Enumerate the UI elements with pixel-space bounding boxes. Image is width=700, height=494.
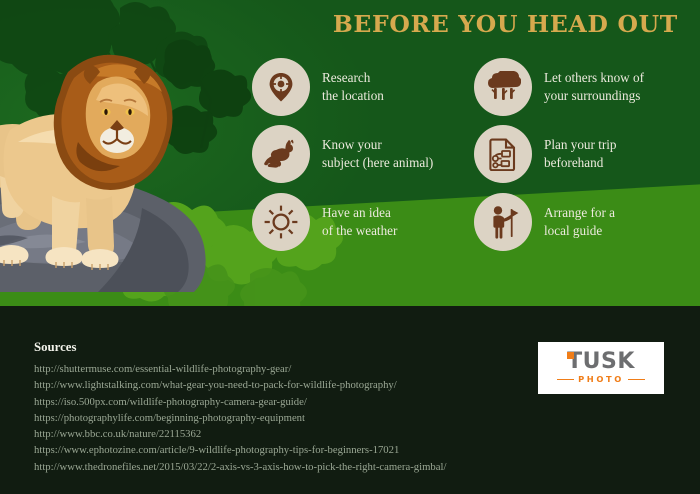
sources-list: http://shuttermuse.com/essential-wildlif… xyxy=(34,361,446,475)
logo-tagline-row: PHOTO xyxy=(545,375,657,384)
kangaroo-icon xyxy=(263,138,299,170)
tusk-photo-logo[interactable]: TUSK PHOTO xyxy=(538,342,664,394)
logo-orange-accent xyxy=(567,352,574,359)
tip-icon-bubble xyxy=(474,58,532,116)
source-link[interactable]: http://www.thedronefiles.net/2015/03/22/… xyxy=(34,459,446,475)
infographic-root: BEFORE YOU HEAD OUT Research the locatio… xyxy=(0,0,700,494)
hero-panel: BEFORE YOU HEAD OUT Research the locatio… xyxy=(0,0,700,306)
tip-label: Have an idea of the weather xyxy=(322,204,397,240)
tip-label: Know your subject (here animal) xyxy=(322,136,433,172)
sun-icon xyxy=(263,204,299,240)
page-title: BEFORE YOU HEAD OUT xyxy=(333,10,678,38)
sources-heading: Sources xyxy=(34,340,76,355)
source-link[interactable]: http://www.bbc.co.uk/nature/22115362 xyxy=(34,426,446,442)
plan-document-icon xyxy=(487,137,519,171)
tip-item-let-others-know[interactable]: Let others know of your surroundings xyxy=(474,58,644,116)
tip-item-have-an-idea-of-the-weather[interactable]: Have an idea of the weather xyxy=(252,193,397,251)
source-link[interactable]: http://www.lightstalking.com/what-gear-y… xyxy=(34,377,446,393)
tip-label: Arrange for a local guide xyxy=(544,204,615,240)
tip-icon-bubble xyxy=(252,193,310,251)
logo-tagline: PHOTO xyxy=(578,375,624,384)
logo-inner: TUSK PHOTO xyxy=(545,351,657,385)
source-link[interactable]: http://shuttermuse.com/essential-wildlif… xyxy=(34,361,446,377)
logo-rule-left xyxy=(557,379,574,381)
tip-icon-bubble xyxy=(474,193,532,251)
tip-icon-bubble xyxy=(252,125,310,183)
tip-icon-bubble xyxy=(252,58,310,116)
logo-rule-right xyxy=(628,379,645,381)
tips-grid: Research the location xyxy=(252,55,700,295)
tip-item-arrange-for-a-local-guide[interactable]: Arrange for a local guide xyxy=(474,193,615,251)
map-pin-icon xyxy=(264,70,298,104)
trees-icon xyxy=(485,71,521,103)
tip-label: Let others know of your surroundings xyxy=(544,69,644,105)
tour-guide-icon xyxy=(487,204,519,240)
tip-item-plan-your-trip[interactable]: Plan your trip beforehand xyxy=(474,125,617,183)
lion-illustration xyxy=(0,26,244,306)
source-link[interactable]: https://www.ephotozine.com/article/9-wil… xyxy=(34,442,446,458)
tip-label: Plan your trip beforehand xyxy=(544,136,617,172)
tip-label: Research the location xyxy=(322,69,384,105)
source-link[interactable]: https://photographylife.com/beginning-ph… xyxy=(34,410,446,426)
tip-item-know-your-subject[interactable]: Know your subject (here animal) xyxy=(252,125,433,183)
source-link[interactable]: https://iso.500px.com/wildlife-photograp… xyxy=(34,394,446,410)
tip-icon-bubble xyxy=(474,125,532,183)
logo-wordmark: TUSK xyxy=(545,351,657,373)
tip-item-research-the-location[interactable]: Research the location xyxy=(252,58,384,116)
